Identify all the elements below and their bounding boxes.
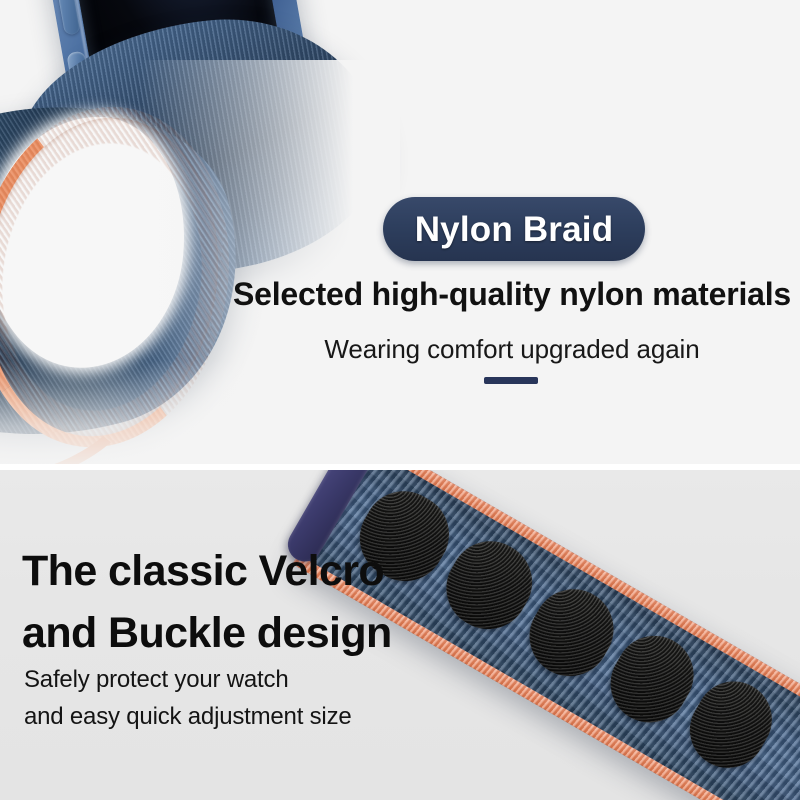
- bottom-heading-line2: and Buckle design: [22, 612, 392, 655]
- nylon-braid-badge: Nylon Braid: [383, 197, 645, 261]
- band-layer: [0, 60, 400, 460]
- bottom-heading-line1: The classic Velcro: [22, 550, 384, 593]
- bottom-sub-line1: Safely protect your watch: [24, 668, 288, 692]
- nylon-braid-section: Nylon Braid Selected high-quality nylon …: [0, 0, 800, 464]
- bottom-sub-line2: and easy quick adjustment size: [24, 705, 352, 729]
- top-subline: Wearing comfort upgraded again: [232, 334, 792, 365]
- top-headline: Selected high-quality nylon materials: [232, 276, 792, 313]
- velcro-buckle-section: The classic Velcro and Buckle design Saf…: [0, 470, 800, 800]
- product-marketing-image: Nylon Braid Selected high-quality nylon …: [0, 0, 800, 800]
- accent-divider-bar: [484, 377, 538, 384]
- band-fade-bottom: [0, 360, 400, 464]
- nylon-loop-band: [0, 60, 400, 460]
- badge-label: Nylon Braid: [415, 212, 614, 247]
